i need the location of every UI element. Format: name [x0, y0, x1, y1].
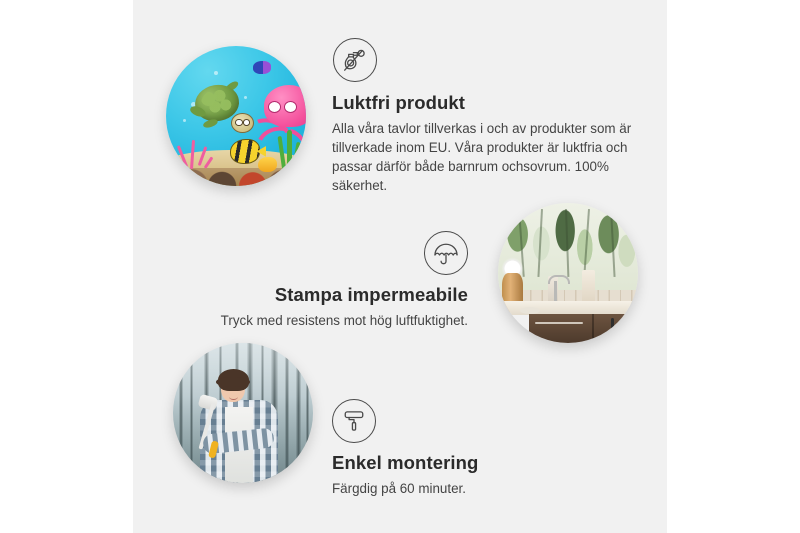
feature-install: Enkel montering Färgdig på 60 minuter. — [332, 399, 592, 498]
feature-waterproof: Stampa impermeabile Tryck med resistens … — [218, 231, 468, 330]
paint-roller-icon — [332, 399, 376, 443]
bubble-icon — [214, 71, 218, 75]
decorator-woman — [198, 374, 279, 483]
fish-yellow-icon — [258, 157, 276, 172]
feature-waterproof-icon-row — [218, 231, 468, 275]
coral-icon — [173, 130, 215, 169]
feature-install-title: Enkel montering — [332, 452, 592, 474]
seaweed-icon — [278, 130, 300, 172]
photo-bathroom-content — [498, 203, 638, 343]
feature-install-description: Färgdig på 60 minuter. — [332, 479, 592, 498]
photo-bathroom-leaf-wallpaper-scene[interactable] — [498, 203, 638, 343]
photo-forest-content — [173, 343, 313, 483]
wooden-vanity-cabinet — [529, 314, 638, 343]
feature-odourless-icon-row — [332, 38, 632, 82]
photo-decorator-forest-wallpaper-scene[interactable] — [173, 343, 313, 483]
faucet-icon — [554, 281, 557, 302]
no-odour-spray-bottle-icon — [333, 38, 377, 82]
photo-underwater-content — [166, 46, 306, 186]
octopus-head — [264, 85, 306, 127]
bubble-icon — [183, 119, 186, 122]
feature-odourless-title: Luktfri produkt — [332, 92, 632, 114]
sea-turtle-icon — [188, 82, 250, 135]
umbrella-icon — [424, 231, 468, 275]
feature-odourless-description: Alla våra tavlor tillverkas i och av pro… — [332, 119, 632, 195]
feature-odourless: Luktfri produkt Alla våra tavlor tillver… — [332, 38, 632, 195]
feature-install-icon-row — [332, 399, 592, 443]
screenshot-canvas: Luktfri produkt Alla våra tavlor tillver… — [0, 0, 800, 533]
photo-underwater-children-scene[interactable] — [166, 46, 306, 186]
paint-roller-head — [198, 393, 219, 411]
cabinet-handle — [611, 318, 614, 336]
feature-waterproof-description: Tryck med resistens mot hög luftfuktighe… — [218, 311, 468, 330]
fish-purple-icon — [253, 61, 271, 74]
woman-hair — [218, 369, 249, 391]
feature-waterproof-title: Stampa impermeabile — [218, 284, 468, 306]
soap-dish — [520, 307, 540, 314]
fish-striped-icon — [230, 139, 260, 163]
